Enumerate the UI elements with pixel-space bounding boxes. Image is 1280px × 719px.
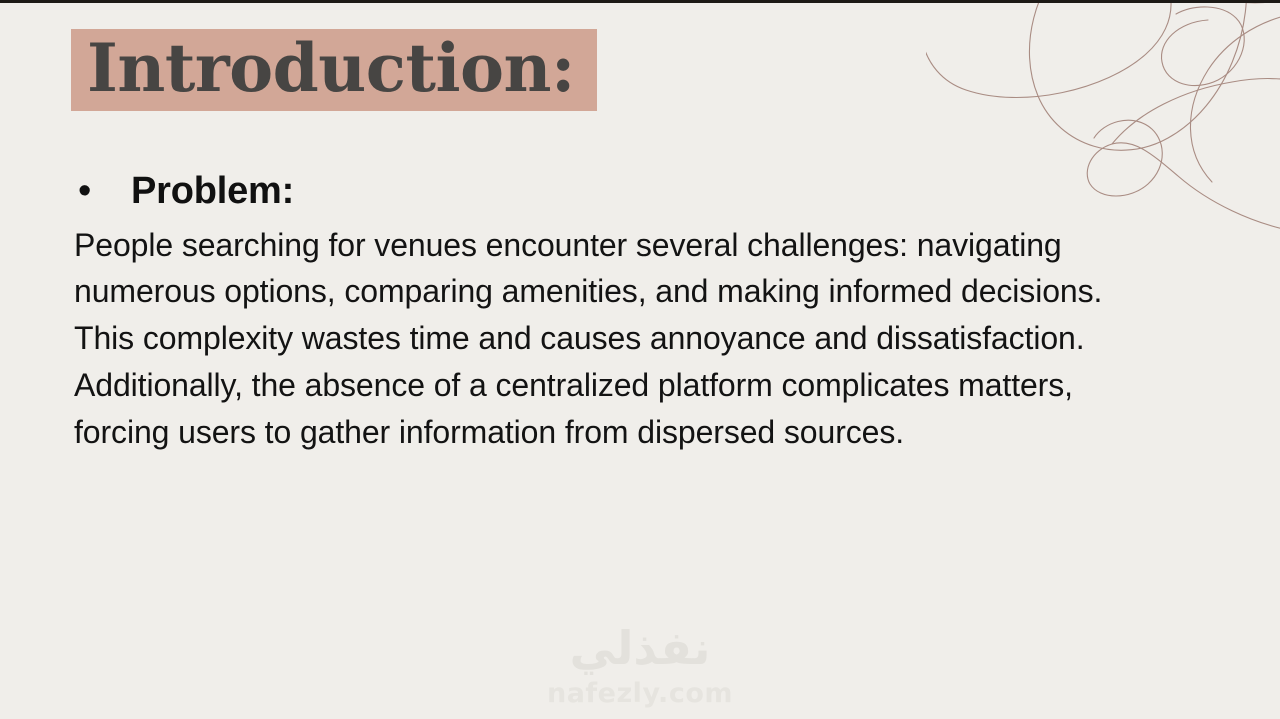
- watermark: نفذلي nafezly.com: [0, 625, 1280, 717]
- title-text: Introduction:: [87, 35, 575, 101]
- page-title: Introduction:: [71, 29, 597, 111]
- bullet-point-icon: •: [74, 172, 131, 210]
- title-highlight-box: Introduction:: [71, 29, 597, 111]
- bullet-item-problem: • Problem:: [74, 170, 1134, 214]
- problem-paragraph: People searching for venues encounter se…: [74, 222, 1114, 456]
- presentation-slide: Introduction: • Problem: People searchin…: [0, 0, 1280, 719]
- slide-content: • Problem: People searching for venues e…: [74, 170, 1134, 455]
- watermark-arabic-text: نفذلي: [570, 625, 711, 671]
- watermark-url-text: nafezly.com: [547, 680, 733, 707]
- bullet-item-label: Problem:: [131, 170, 294, 214]
- top-edge-bar: [0, 0, 1280, 3]
